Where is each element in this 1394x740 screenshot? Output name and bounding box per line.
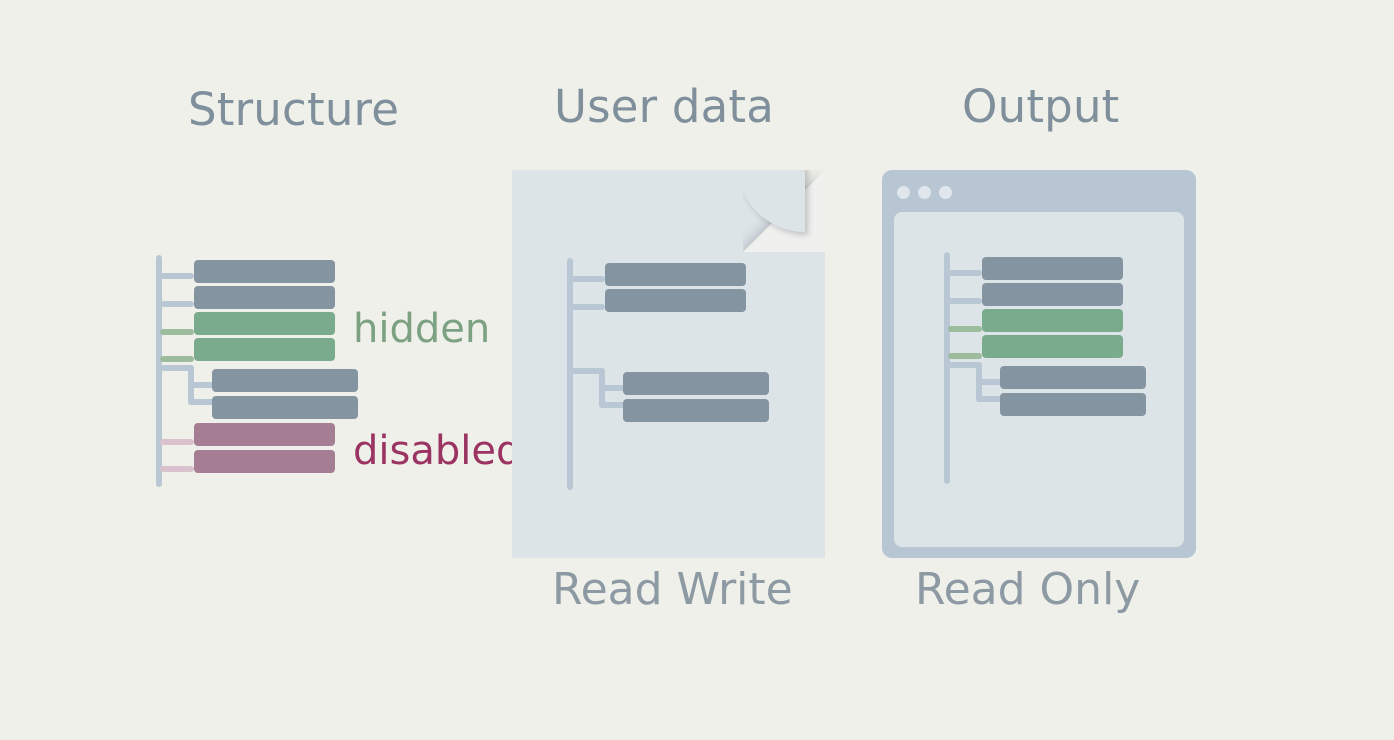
window-title-bar [882, 170, 1196, 212]
tree-bar-2-hidden [982, 309, 1123, 332]
tree-stub-2-hidden [160, 329, 194, 335]
window-close-dot-icon[interactable] [897, 186, 910, 199]
tree-stub-0 [571, 276, 605, 282]
legend-label-disabled: disabled [353, 428, 521, 474]
page-curl-icon [743, 170, 825, 252]
tree-bar-3-hidden [982, 335, 1123, 358]
column-title-structure: Structure [188, 83, 399, 136]
user-data-tree [567, 258, 807, 493]
output-tree [944, 252, 1184, 487]
tree-stub-0 [948, 270, 982, 276]
tree-trunk [567, 258, 573, 490]
caption-read-write: Read Write [552, 564, 793, 615]
user-data-document [512, 170, 825, 558]
tree-trunk [156, 255, 162, 487]
tree-bar-1[interactable] [194, 286, 335, 309]
tree-trunk [944, 252, 950, 484]
tree-stub-0 [160, 273, 194, 279]
tree-stub-1 [571, 304, 605, 310]
tree-bar-5[interactable] [212, 396, 358, 419]
tree-stub-3-hidden [948, 353, 982, 359]
tree-bar-0 [605, 263, 746, 286]
tree-bar-1 [982, 283, 1123, 306]
tree-stub-6-disabled [160, 439, 194, 445]
tree-bar-1 [605, 289, 746, 312]
window-maximize-dot-icon[interactable] [939, 186, 952, 199]
diagram-canvas: Structure hidden disabled User d [0, 0, 1394, 740]
tree-stub-1 [160, 301, 194, 307]
window-minimize-dot-icon[interactable] [918, 186, 931, 199]
column-title-user-data: User data [554, 80, 774, 133]
tree-bar-0 [982, 257, 1123, 280]
tree-bar-6-disabled[interactable] [194, 423, 335, 446]
tree-bar-4[interactable] [212, 369, 358, 392]
tree-stub-1 [948, 298, 982, 304]
output-browser-window [882, 170, 1196, 558]
tree-bar-0[interactable] [194, 260, 335, 283]
caption-read-only: Read Only [915, 564, 1140, 615]
tree-stub-2-hidden [948, 326, 982, 332]
tree-bar-3-hidden[interactable] [194, 338, 335, 361]
legend-label-hidden: hidden [353, 306, 490, 352]
tree-bar-2-hidden[interactable] [194, 312, 335, 335]
tree-bar-4 [1000, 366, 1146, 389]
tree-bar-7-disabled[interactable] [194, 450, 335, 473]
tree-bar-4 [623, 372, 769, 395]
tree-bar-5 [1000, 393, 1146, 416]
output-viewport [894, 212, 1184, 547]
tree-stub-7-disabled [160, 466, 194, 472]
column-title-output: Output [962, 80, 1120, 133]
tree-bar-5 [623, 399, 769, 422]
tree-stub-3-hidden [160, 356, 194, 362]
